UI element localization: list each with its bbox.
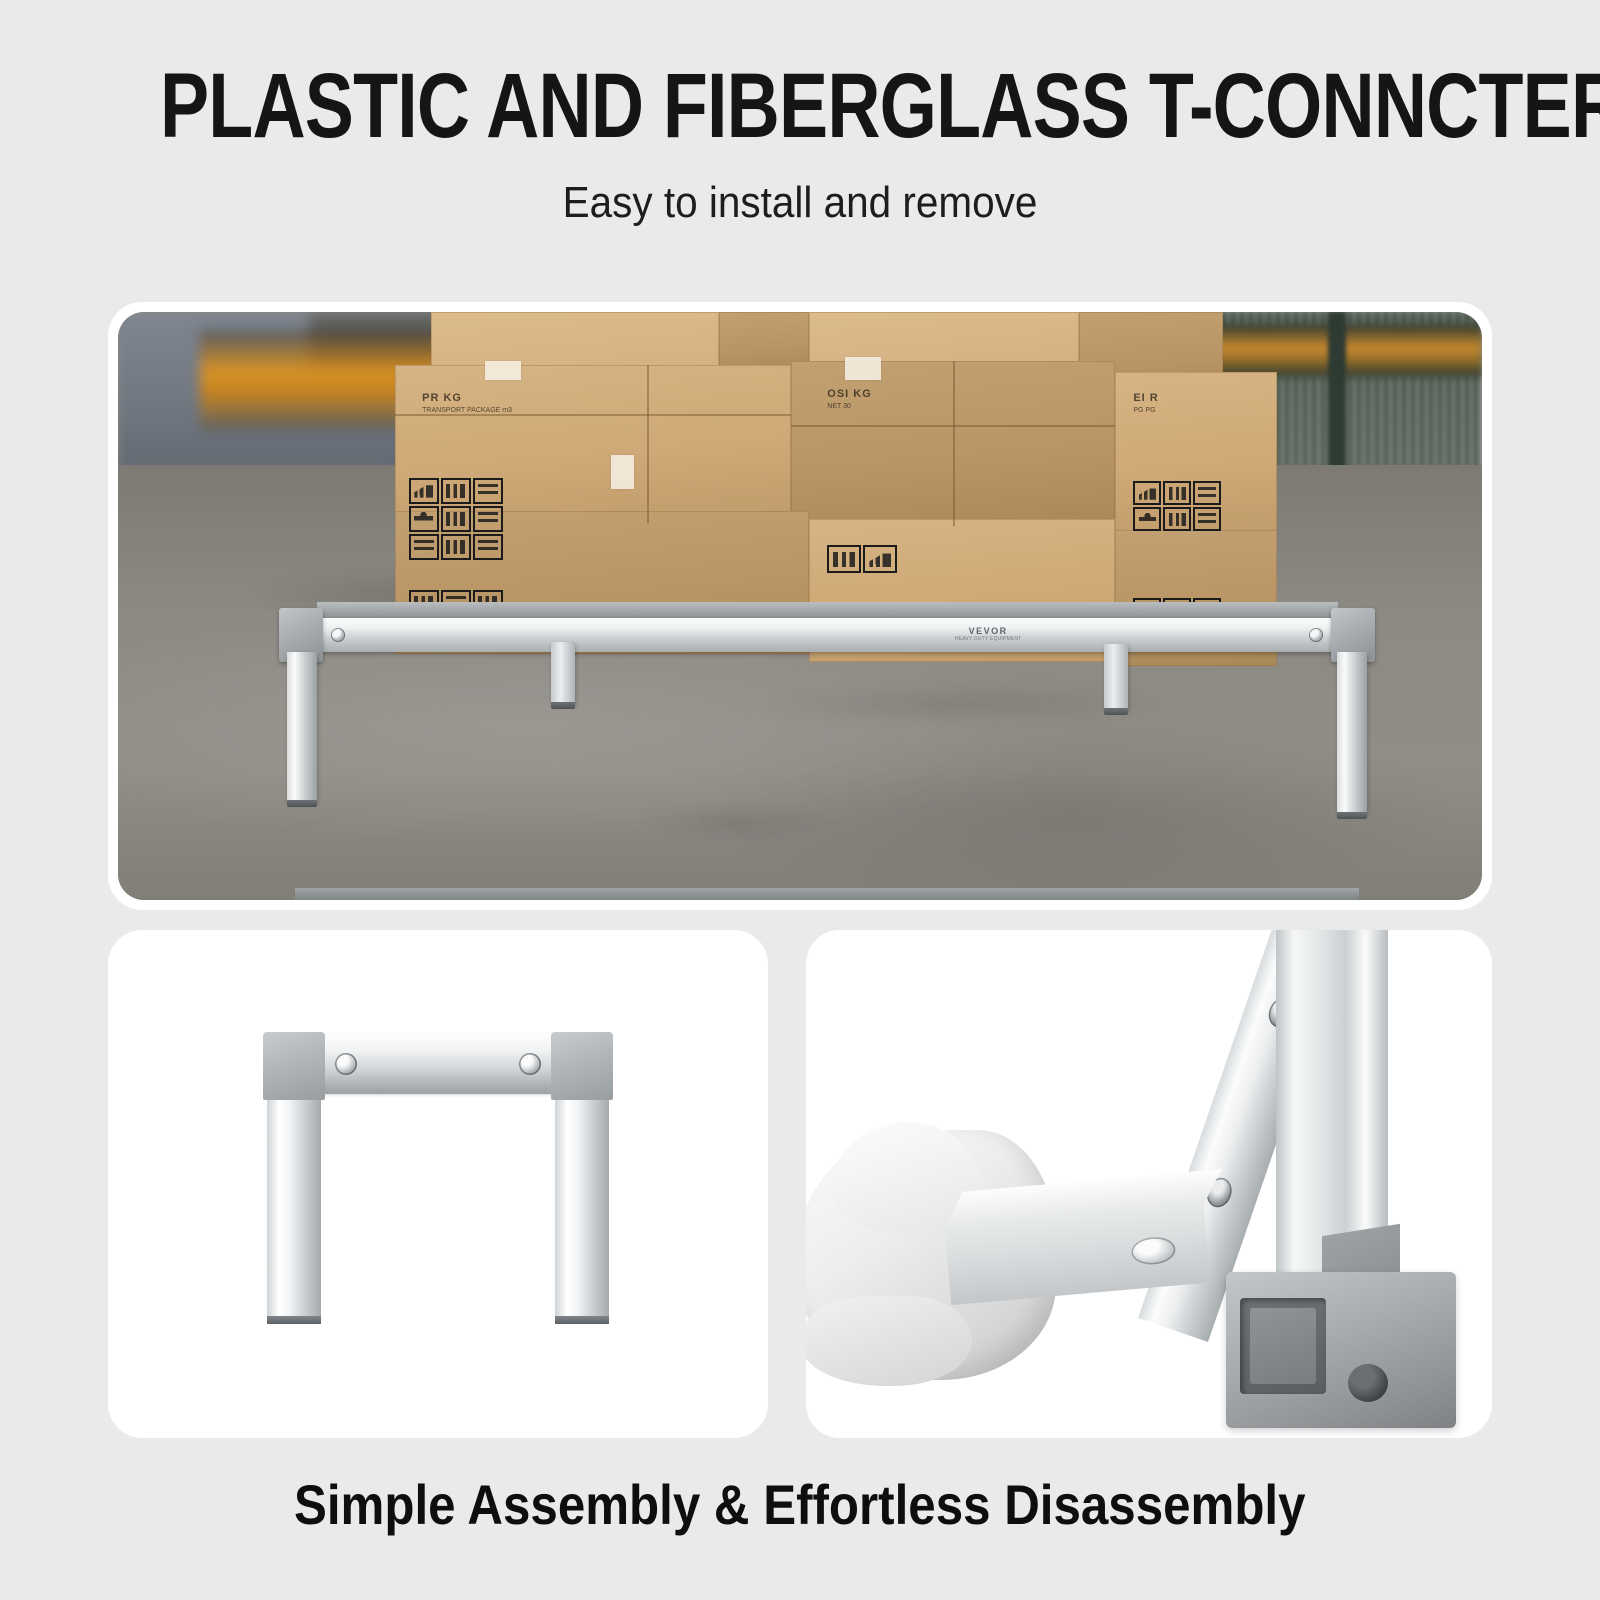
rack-rail-back — [317, 602, 1338, 618]
assembly-detail-photo — [806, 930, 1492, 1438]
box-code-text: PR KG — [422, 391, 512, 406]
rack-leg-front-left — [287, 652, 317, 802]
box-code-sub: TRANSPORT PACKAGE m3 — [422, 407, 512, 414]
bar-chart-icon-3 — [1133, 481, 1161, 505]
assembly-detail-panel — [806, 930, 1492, 1438]
text-block-icon — [473, 478, 503, 504]
bar-chart-icon-2 — [863, 545, 897, 573]
handling-icon-grid-right — [827, 545, 897, 573]
box-tape-1 — [485, 361, 521, 380]
handling-icon-grid-left — [409, 478, 503, 560]
rack-rail-front — [295, 618, 1359, 652]
vevor-brand-label: VEVOR HEAVY DUTY EQUIPMENT — [955, 626, 1022, 642]
footer-caption: Simple Assembly & Effortless Disassembly — [294, 1472, 1306, 1537]
t-connector-cap-left — [263, 1032, 325, 1100]
frame-leg-left — [267, 1100, 321, 1324]
leg-frame-panel — [108, 930, 768, 1438]
hero-photo-panel: PR KG TRANSPORT PACKAGE m3 OSI KG NET 30… — [108, 302, 1492, 910]
box-seam-4 — [953, 361, 955, 527]
vevor-brand-text: VEVOR — [969, 626, 1008, 636]
box-tape-2 — [845, 357, 881, 380]
held-aluminum-bar — [942, 1171, 1211, 1305]
t-connector-socket — [1226, 1272, 1456, 1428]
page-subtitle: Easy to install and remove — [64, 178, 1536, 228]
box-print-code-1: PR KG TRANSPORT PACKAGE m3 — [422, 391, 512, 415]
manual-icon — [827, 545, 861, 573]
frame-leg-right — [555, 1100, 609, 1324]
rivet-left — [331, 628, 345, 642]
box-seam-3 — [647, 365, 649, 523]
hook-icon — [441, 478, 471, 504]
vevor-brand-sub: HEAVY DUTY EQUIPMENT — [955, 636, 1022, 642]
box-code-text-2: OSI KG — [827, 387, 872, 402]
t-connector-cap-right — [551, 1032, 613, 1100]
rack-leg-back-left — [551, 642, 575, 704]
text-block-icon-4 — [473, 534, 503, 560]
text-block-icon-3 — [409, 534, 439, 560]
box-print-code-2: OSI KG NET 30 — [827, 387, 872, 411]
box-print-code-3: EI R PG PG — [1133, 391, 1158, 415]
person-icon-3 — [1133, 507, 1161, 531]
rack-rail-face — [295, 888, 1359, 900]
text-block-icon-6 — [1193, 481, 1221, 505]
cup-icon — [441, 534, 471, 560]
hook-icon-2 — [1163, 481, 1191, 505]
connector-rivet-hole — [1348, 1364, 1388, 1402]
connector-opening — [1240, 1298, 1326, 1394]
u-leg-frame — [223, 1034, 653, 1334]
bar-chart-icon — [409, 478, 439, 504]
footer: Simple Assembly & Effortless Disassembly — [0, 1472, 1600, 1537]
box-code-sub-3: PG PG — [1133, 407, 1155, 414]
dunnage-rack: VEVOR HEAVY DUTY EQUIPMENT — [295, 618, 1359, 888]
fragile-icon — [441, 506, 471, 532]
frame-rivet-right — [519, 1053, 541, 1075]
rack-leg-front-right — [1337, 652, 1367, 814]
person-icon — [409, 506, 439, 532]
hero-photo: PR KG TRANSPORT PACKAGE m3 OSI KG NET 30… — [118, 312, 1482, 900]
header: PLASTIC AND FIBERGLASS T-CONNCTER Easy t… — [0, 0, 1600, 228]
page-title: PLASTIC AND FIBERGLASS T-CONNCTER — [160, 60, 1440, 152]
fragile-icon-2 — [1163, 507, 1191, 531]
rack-leg-back-right — [1104, 644, 1128, 710]
text-block-icon-2 — [473, 506, 503, 532]
box-tape-3 — [611, 455, 634, 489]
text-block-icon-7 — [1193, 507, 1221, 531]
rivet-right — [1309, 628, 1323, 642]
frame-crossbar — [281, 1034, 595, 1094]
frame-rivet-left — [335, 1053, 357, 1075]
handling-icon-grid-far — [1133, 481, 1221, 531]
box-code-text-3: EI R — [1133, 391, 1158, 406]
box-code-sub-2: NET 30 — [827, 403, 851, 410]
